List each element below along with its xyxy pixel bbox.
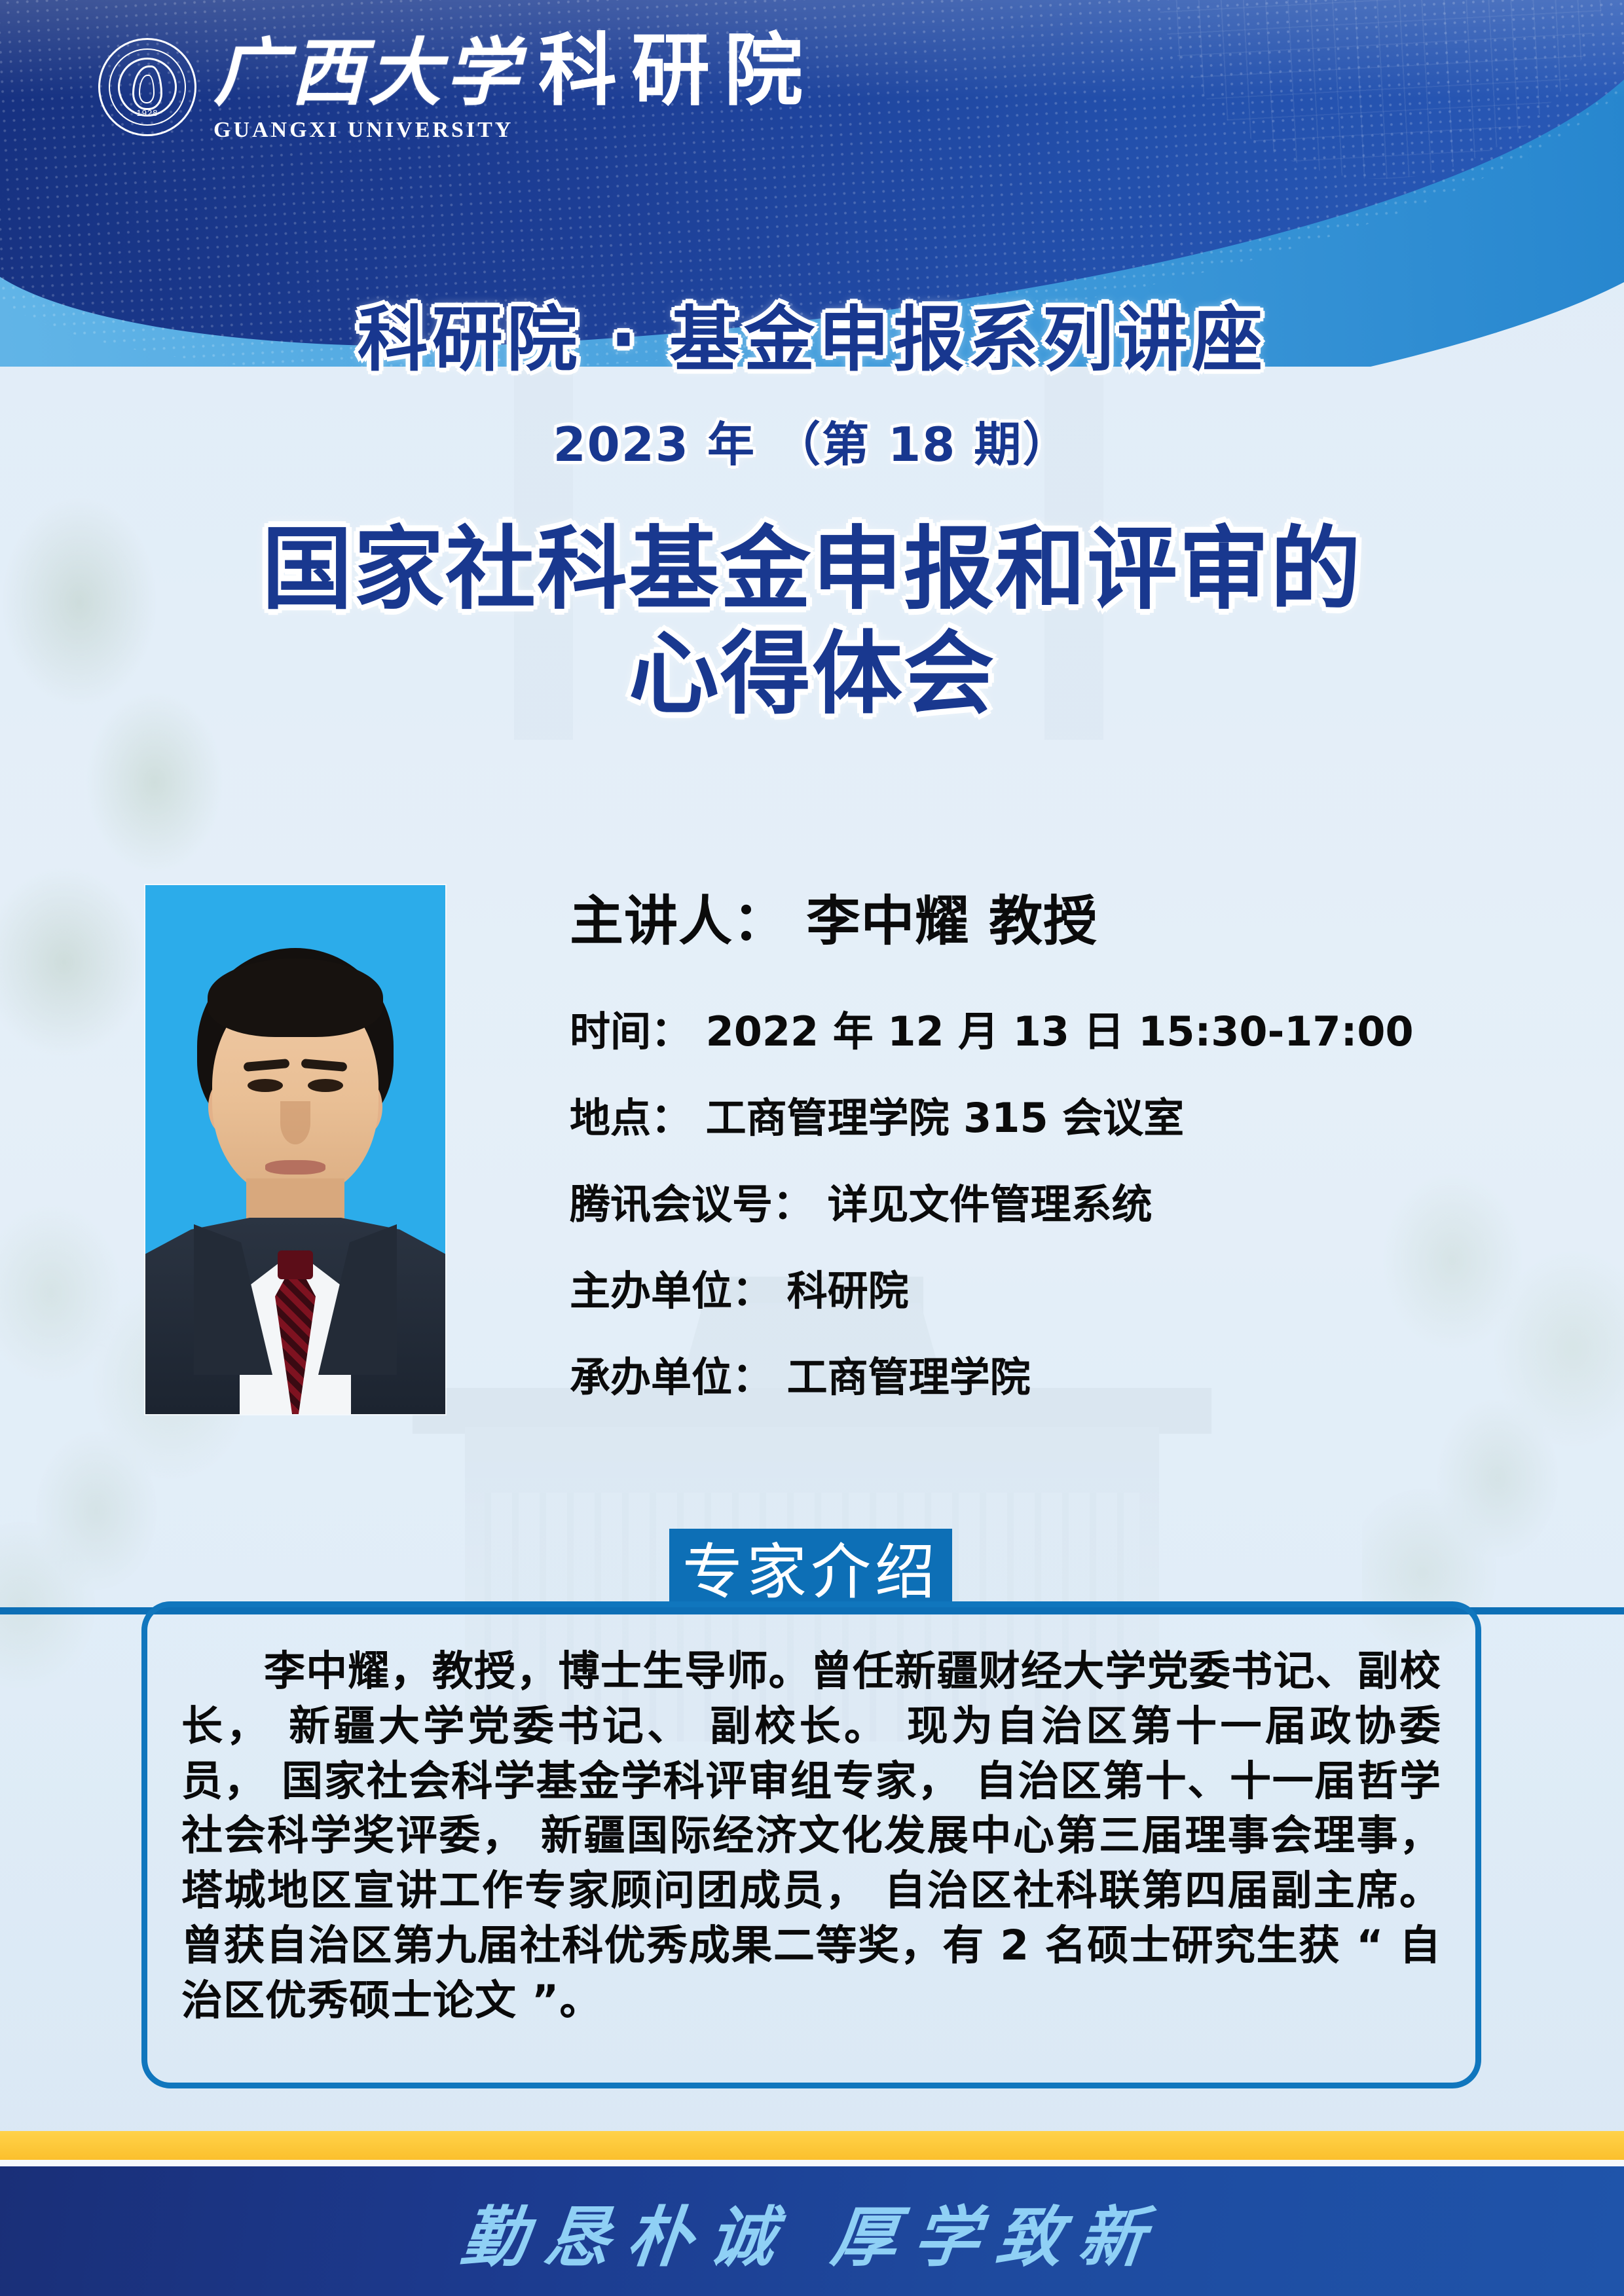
- portrait-necktie-knot: [278, 1250, 313, 1279]
- expert-bio-box: 李中耀，教授，博士生导师。曾任新疆财经大学党委书记、副校长， 新疆大学党委书记、…: [141, 1601, 1481, 2088]
- university-name-cn: 广西大学: [213, 37, 523, 110]
- portrait-eye-right: [308, 1079, 343, 1092]
- issue-number: 2023 年 （第 18 期）: [0, 406, 1624, 475]
- seal-flame-inner-glyph: [139, 75, 155, 103]
- portrait-eye-left: [248, 1079, 283, 1092]
- main-title-line-1: 国家社科基金申报和评审的: [0, 517, 1624, 622]
- series-title: 科研院 · 基金申报系列讲座: [0, 283, 1624, 385]
- event-meeting-id: 腾讯会议号： 详见文件管理系统: [570, 1171, 1500, 1230]
- expert-intro-label: 专家介绍: [682, 1523, 939, 1611]
- department-name: 科研院: [538, 31, 817, 110]
- footer-gold-bar: [0, 2131, 1624, 2160]
- event-location: 地点： 工商管理学院 315 会议室: [570, 1085, 1500, 1144]
- page-title: 国家社科基金申报和评审的 心得体会: [0, 517, 1624, 727]
- event-co-organizer: 承办单位： 工商管理学院: [570, 1344, 1500, 1403]
- main-title-line-2: 心得体会: [0, 622, 1624, 727]
- header-wordmark: 广西大学 科研院 GUANGXI UNIVERSITY: [213, 31, 817, 143]
- portrait-fringe: [208, 958, 383, 1037]
- avatar: [145, 885, 445, 1414]
- expert-bio-text: 李中耀，教授，博士生导师。曾任新疆财经大学党委书记、副校长， 新疆大学党委书记、…: [181, 1644, 1441, 2028]
- university-name-en: GUANGXI UNIVERSITY: [213, 118, 817, 143]
- header-wordmark-row: 广西大学 科研院: [213, 31, 817, 110]
- event-details: 主讲人： 李中耀 教授 时间： 2022 年 12 月 13 日 15:30-1…: [570, 877, 1500, 1430]
- footer-banner: 勤恳朴诚 厚学致新: [0, 2166, 1624, 2296]
- header-logo-group: 1928 广西大学 科研院 GUANGXI UNIVERSITY: [98, 31, 817, 143]
- expert-intro-badge: 专家介绍: [669, 1529, 952, 1611]
- poster-root: 1928 广西大学 科研院 GUANGXI UNIVERSITY 科研院 · 基…: [0, 0, 1624, 2296]
- portrait-nose: [280, 1101, 310, 1144]
- portrait-mouth: [265, 1160, 325, 1175]
- university-seal-icon: 1928: [98, 38, 196, 136]
- speaker-name: 主讲人： 李中耀 教授: [570, 877, 1500, 955]
- event-time: 时间： 2022 年 12 月 13 日 15:30-17:00: [570, 998, 1500, 1057]
- seal-founding-year: 1928: [98, 108, 196, 118]
- footer-gold-bar-edge: [0, 2160, 1624, 2166]
- event-organizer: 主办单位： 科研院: [570, 1258, 1500, 1317]
- university-motto: 勤恳朴诚 厚学致新: [457, 2184, 1167, 2279]
